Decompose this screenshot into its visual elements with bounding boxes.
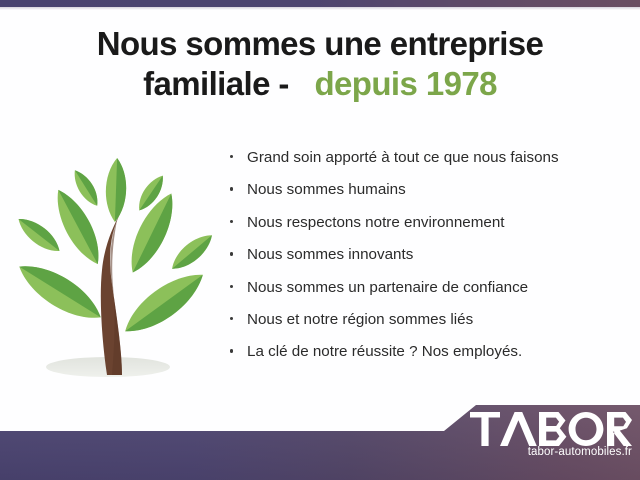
bullet-dot-icon bbox=[230, 252, 233, 255]
heading-line-2-accent: depuis 1978 bbox=[315, 65, 497, 102]
tabor-tagline: tabor-automobiles.fr bbox=[470, 446, 632, 458]
list-item: Grand soin apporté à tout ce que nous fa… bbox=[228, 148, 628, 167]
top-accent-strip bbox=[0, 0, 640, 7]
value-bullet-list: Grand soin apporté à tout ce que nous fa… bbox=[228, 148, 628, 375]
list-item-label: Nous sommes un partenaire de confiance bbox=[247, 279, 528, 296]
tabor-wordmark bbox=[470, 412, 632, 446]
heading-line-1: Nous sommes une entreprise bbox=[20, 24, 620, 64]
tree-leaf bbox=[47, 184, 108, 270]
list-item-label: Nous sommes innovants bbox=[247, 246, 413, 263]
list-item-label: La clé de notre réussite ? Nos employés. bbox=[247, 343, 522, 360]
bullet-dot-icon bbox=[230, 220, 233, 223]
slide-canvas: Nous sommes une entreprise familiale - d… bbox=[0, 0, 640, 480]
list-item: Nous sommes innovants bbox=[228, 245, 628, 264]
top-accent-strip-shadow bbox=[0, 7, 640, 10]
list-item: La clé de notre réussite ? Nos employés. bbox=[228, 342, 628, 361]
tree-trunk bbox=[101, 214, 122, 375]
tabor-logo[interactable]: tabor-automobiles.fr bbox=[470, 412, 632, 474]
list-item-label: Nous respectons notre environnement bbox=[247, 214, 505, 231]
tree-leaf bbox=[13, 212, 65, 258]
tree-leaf bbox=[12, 254, 108, 330]
tree-leaf bbox=[117, 263, 212, 343]
tree-leaf bbox=[105, 158, 127, 223]
bullet-dot-icon bbox=[230, 187, 233, 190]
list-item-label: Grand soin apporté à tout ce que nous fa… bbox=[247, 149, 559, 166]
slide-heading: Nous sommes une entreprise familiale - d… bbox=[20, 24, 620, 104]
heading-line-2: familiale - depuis 1978 bbox=[20, 64, 620, 104]
footer-band: tabor-automobiles.fr bbox=[0, 400, 640, 480]
bullet-dot-icon bbox=[230, 285, 233, 288]
list-item: Nous et notre région sommes liés bbox=[228, 310, 628, 329]
list-item-label: Nous et notre région sommes liés bbox=[247, 311, 473, 328]
list-item: Nous sommes humains bbox=[228, 180, 628, 199]
tree-illustration bbox=[12, 152, 220, 388]
bullet-dot-icon bbox=[230, 155, 233, 158]
list-item: Nous respectons notre environnement bbox=[228, 213, 628, 232]
bullet-dot-icon bbox=[230, 349, 233, 352]
bullet-dot-icon bbox=[230, 317, 233, 320]
heading-line-2-plain: familiale - bbox=[143, 65, 289, 102]
list-item-label: Nous sommes humains bbox=[247, 181, 406, 198]
tree-leaf bbox=[167, 229, 218, 276]
list-item: Nous sommes un partenaire de confiance bbox=[228, 278, 628, 297]
